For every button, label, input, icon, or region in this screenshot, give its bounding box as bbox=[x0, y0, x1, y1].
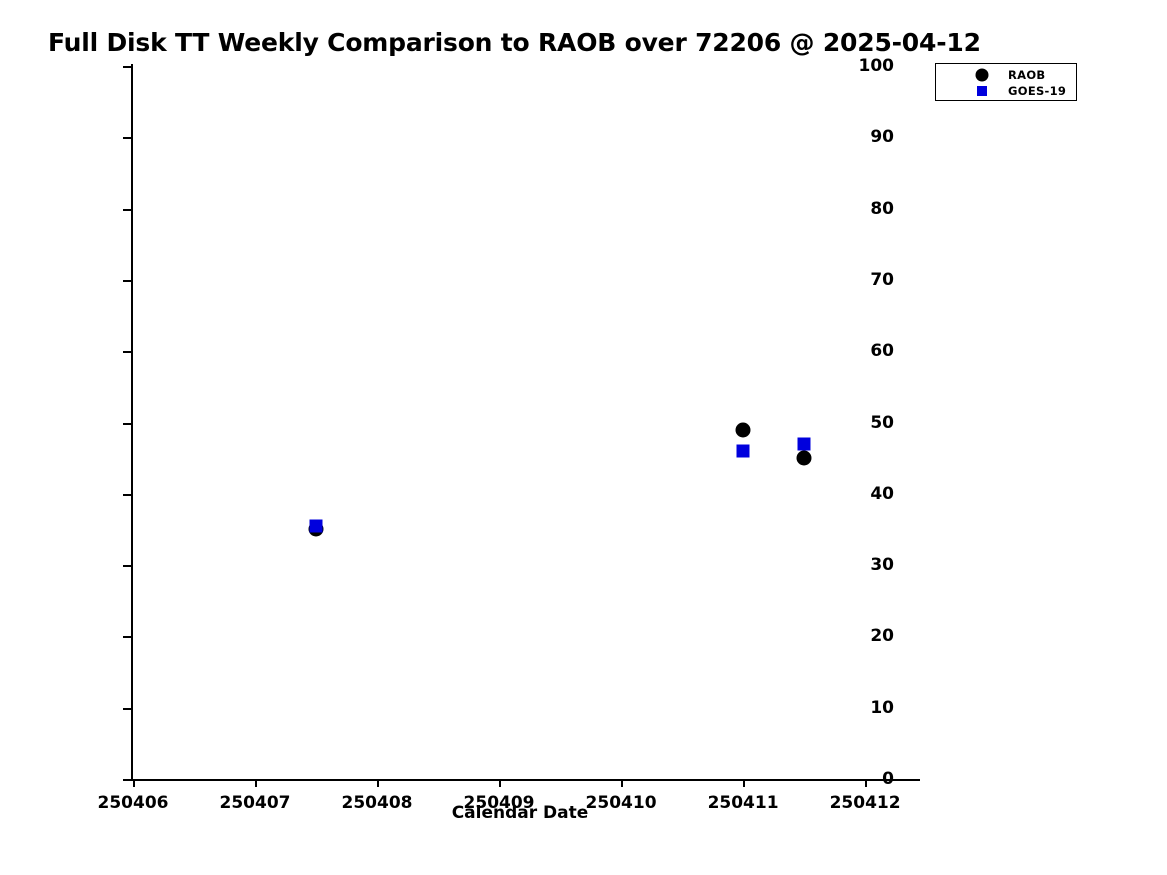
x-tick-mark bbox=[377, 779, 379, 787]
y-tick-mark bbox=[123, 423, 131, 425]
plot-area: 0102030405060708090100 25040625040725040… bbox=[133, 66, 920, 779]
y-tick-mark bbox=[123, 137, 131, 139]
y-tick-label: 20 bbox=[870, 626, 894, 646]
y-tick-label: 60 bbox=[870, 341, 894, 361]
y-tick-mark bbox=[123, 636, 131, 638]
y-tick-label: 10 bbox=[870, 698, 894, 718]
legend-label-raob: RAOB bbox=[1008, 68, 1046, 82]
y-tick-label: 50 bbox=[870, 413, 894, 433]
y-tick-mark bbox=[123, 351, 131, 353]
y-tick-mark bbox=[123, 280, 131, 282]
goes19-marker-icon bbox=[974, 82, 990, 99]
x-tick-mark bbox=[255, 779, 257, 787]
data-point-goes-19 bbox=[310, 519, 323, 532]
legend-label-goes19: GOES-19 bbox=[1008, 84, 1066, 98]
x-tick-mark bbox=[865, 779, 867, 787]
x-tick-mark bbox=[499, 779, 501, 787]
chart-title: Full Disk TT Weekly Comparison to RAOB o… bbox=[48, 28, 981, 57]
x-tick-mark bbox=[133, 779, 135, 787]
y-tick-label: 90 bbox=[870, 127, 894, 147]
y-tick-mark bbox=[123, 779, 131, 781]
x-axis-line bbox=[131, 779, 920, 781]
data-point-raob bbox=[736, 422, 751, 437]
y-tick-label: 40 bbox=[870, 484, 894, 504]
data-point-raob bbox=[797, 451, 812, 466]
y-tick-label: 80 bbox=[870, 199, 894, 219]
y-tick-label: 0 bbox=[882, 769, 894, 789]
legend-item-raob: RAOB bbox=[936, 66, 1076, 83]
data-point-goes-19 bbox=[737, 445, 750, 458]
legend-item-goes19: GOES-19 bbox=[936, 82, 1076, 99]
data-point-goes-19 bbox=[798, 437, 811, 450]
y-tick-label: 70 bbox=[870, 270, 894, 290]
y-tick-mark bbox=[123, 565, 131, 567]
x-tick-mark bbox=[743, 779, 745, 787]
x-tick-mark bbox=[621, 779, 623, 787]
raob-marker-icon bbox=[974, 66, 990, 83]
x-axis-label: Calendar Date bbox=[0, 803, 1040, 823]
chart-legend: RAOB GOES-19 bbox=[935, 63, 1077, 101]
y-tick-label: 30 bbox=[870, 555, 894, 575]
y-tick-mark bbox=[123, 66, 131, 68]
y-tick-mark bbox=[123, 494, 131, 496]
y-tick-mark bbox=[123, 209, 131, 211]
y-tick-label: 100 bbox=[859, 56, 895, 76]
chart-page: Full Disk TT Weekly Comparison to RAOB o… bbox=[0, 0, 1167, 875]
y-tick-mark bbox=[123, 708, 131, 710]
